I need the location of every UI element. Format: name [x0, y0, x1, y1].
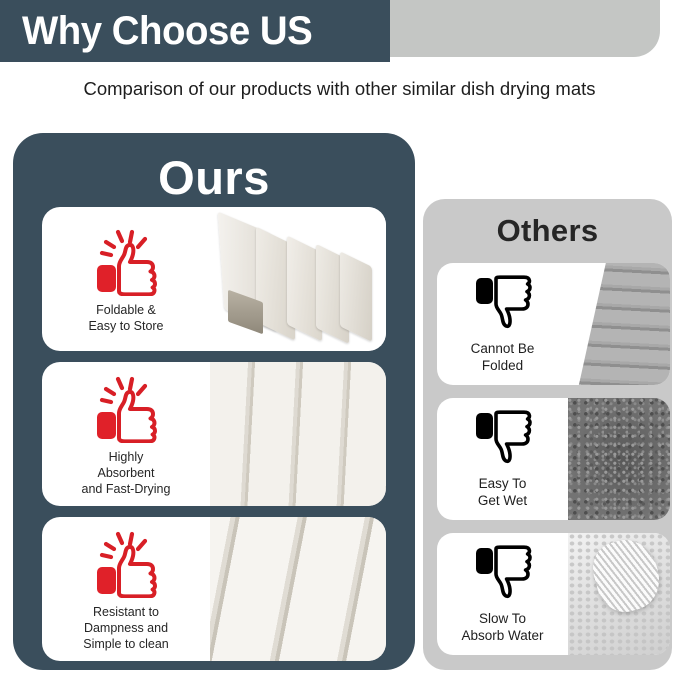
folded-dish-mat-photo	[210, 207, 386, 351]
thumbs-down-icon	[472, 274, 534, 334]
others-feature-card: Cannot Be Folded	[437, 263, 670, 385]
ours-feature-card: Foldable & Easy to Store	[42, 207, 386, 351]
label-line: and Fast-Drying	[82, 481, 171, 497]
label-line: Folded	[471, 358, 535, 375]
ribbed-mat-panels-photo	[210, 362, 386, 506]
others-card-content: Cannot Be Folded	[437, 263, 568, 385]
ours-card-content: Foldable & Easy to Store	[42, 207, 210, 351]
others-card-label: Easy To Get Wet	[478, 476, 527, 509]
ours-card-label: Foldable & Easy to Store	[88, 302, 163, 334]
thumbs-up-icon	[89, 530, 163, 598]
label-line: Dampness and	[83, 620, 168, 636]
ours-card-content: Resistant to Dampness and Simple to clea…	[42, 517, 210, 661]
ours-panel-title: Ours	[13, 150, 415, 205]
ours-panel: Ours Foldable & Easy to	[13, 133, 415, 670]
ours-feature-card: Resistant to Dampness and Simple to clea…	[42, 517, 386, 661]
others-card-content: Slow To Absorb Water	[437, 533, 568, 655]
others-feature-card: Easy To Get Wet	[437, 398, 670, 520]
label-line: Get Wet	[478, 493, 527, 510]
label-line: Foldable &	[88, 302, 163, 318]
label-line: Slow To	[461, 611, 543, 628]
silicone-drying-mat-photo	[568, 533, 670, 655]
label-line: Absorbent	[82, 465, 171, 481]
gray-striped-mat-photo	[568, 263, 670, 385]
label-line: Absorb Water	[461, 628, 543, 645]
ours-card-content: Highly Absorbent and Fast-Drying	[42, 362, 210, 506]
header-title-plate: Why Choose US	[0, 0, 390, 62]
others-card-content: Easy To Get Wet	[437, 398, 568, 520]
label-line: Highly	[82, 449, 171, 465]
wet-gray-fabric-photo	[568, 398, 670, 520]
page-title: Why Choose US	[22, 9, 312, 54]
label-line: Cannot Be	[471, 341, 535, 358]
others-panel-title: Others	[423, 213, 672, 249]
others-card-label: Cannot Be Folded	[471, 341, 535, 374]
label-line: Easy To	[478, 476, 527, 493]
mat-surface-closeup-photo	[210, 517, 386, 661]
ours-card-label: Resistant to Dampness and Simple to clea…	[83, 604, 168, 652]
label-line: Easy to Store	[88, 318, 163, 334]
thumbs-down-icon	[472, 544, 534, 604]
thumbs-up-icon	[89, 375, 163, 443]
thumbs-up-icon	[89, 228, 163, 296]
others-card-label: Slow To Absorb Water	[461, 611, 543, 644]
thumbs-down-icon	[472, 409, 534, 469]
label-line: Resistant to	[83, 604, 168, 620]
page-subtitle: Comparison of our products with other si…	[0, 78, 679, 100]
others-panel: Others Cannot Be Folded	[423, 199, 672, 670]
ours-card-label: Highly Absorbent and Fast-Drying	[82, 449, 171, 497]
others-feature-card: Slow To Absorb Water	[437, 533, 670, 655]
label-line: Simple to clean	[83, 636, 168, 652]
ours-feature-card: Highly Absorbent and Fast-Drying	[42, 362, 386, 506]
